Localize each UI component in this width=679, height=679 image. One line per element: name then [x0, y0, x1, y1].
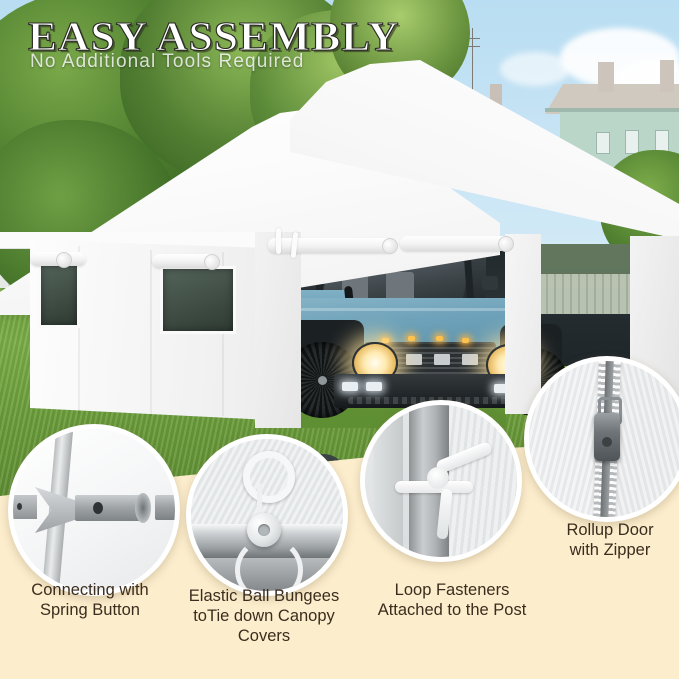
frame-stub — [9, 495, 37, 519]
caption-line: Spring Button — [0, 600, 180, 620]
grille-letter — [462, 354, 478, 365]
steel-tube — [155, 495, 180, 520]
caption-line: Elastic Ball Bungees — [176, 586, 352, 606]
caption-line: Rollup Door — [540, 520, 679, 540]
amber-marker-light — [408, 336, 415, 341]
callout-spring-button — [8, 424, 180, 596]
amber-marker-light — [436, 336, 443, 341]
hubcap — [318, 376, 327, 385]
caption-loop-fastener: Loop Fasteners Attached to the Post — [352, 580, 552, 620]
rolled-up-panel — [268, 238, 396, 253]
amber-marker-light — [382, 338, 389, 343]
caption-line: toTie down Canopy — [176, 606, 352, 626]
callout-loop-fastener — [360, 400, 522, 562]
fog-lamp — [366, 382, 382, 391]
callout-rollup-door-zipper — [524, 356, 679, 522]
amber-marker-light — [462, 338, 469, 343]
side-mirror — [482, 276, 498, 290]
callout-ball-bungee — [186, 434, 348, 596]
tie-strap — [276, 228, 281, 254]
subheadline: No Additional Tools Required — [30, 51, 304, 73]
caption-line: Loop Fasteners — [352, 580, 552, 600]
rolled-up-panel — [400, 236, 510, 251]
grille-letter — [434, 354, 450, 365]
bungee-cord — [257, 483, 262, 517]
tube-opening — [135, 493, 151, 523]
roll-end-cap — [56, 252, 72, 268]
caption-ball-bungee: Elastic Ball Bungees toTie down Canopy C… — [176, 586, 352, 646]
steel-tube — [75, 495, 143, 521]
zipper-slider-hole — [602, 437, 612, 447]
door-fabric-left — [529, 361, 602, 517]
caption-line: Connecting with — [0, 580, 180, 600]
caption-line: with Zipper — [540, 540, 679, 560]
product-feature-image: EASY ASSEMBLY No Additional Tools Requir… — [0, 0, 679, 679]
caption-rollup-door: Rollup Door with Zipper — [540, 520, 679, 560]
door-fabric-right — [612, 361, 679, 517]
canopy-front-post-wall — [255, 232, 301, 428]
mesh-window — [38, 262, 80, 328]
spring-button-hole — [93, 502, 103, 514]
stub-hole — [17, 503, 22, 510]
strap-knot — [427, 467, 449, 489]
roll-end-cap — [498, 236, 514, 252]
caption-line: Attached to the Post — [352, 600, 552, 620]
grille-letter — [406, 354, 422, 365]
roll-end-cap — [204, 254, 220, 270]
fabric-seam — [150, 250, 152, 416]
caption-line: Covers — [176, 626, 352, 646]
caption-spring-button: Connecting with Spring Button — [0, 580, 180, 620]
fog-lamp — [342, 382, 358, 391]
grommet-ring — [243, 451, 295, 503]
roll-end-cap — [382, 238, 398, 254]
mesh-window — [160, 266, 236, 334]
